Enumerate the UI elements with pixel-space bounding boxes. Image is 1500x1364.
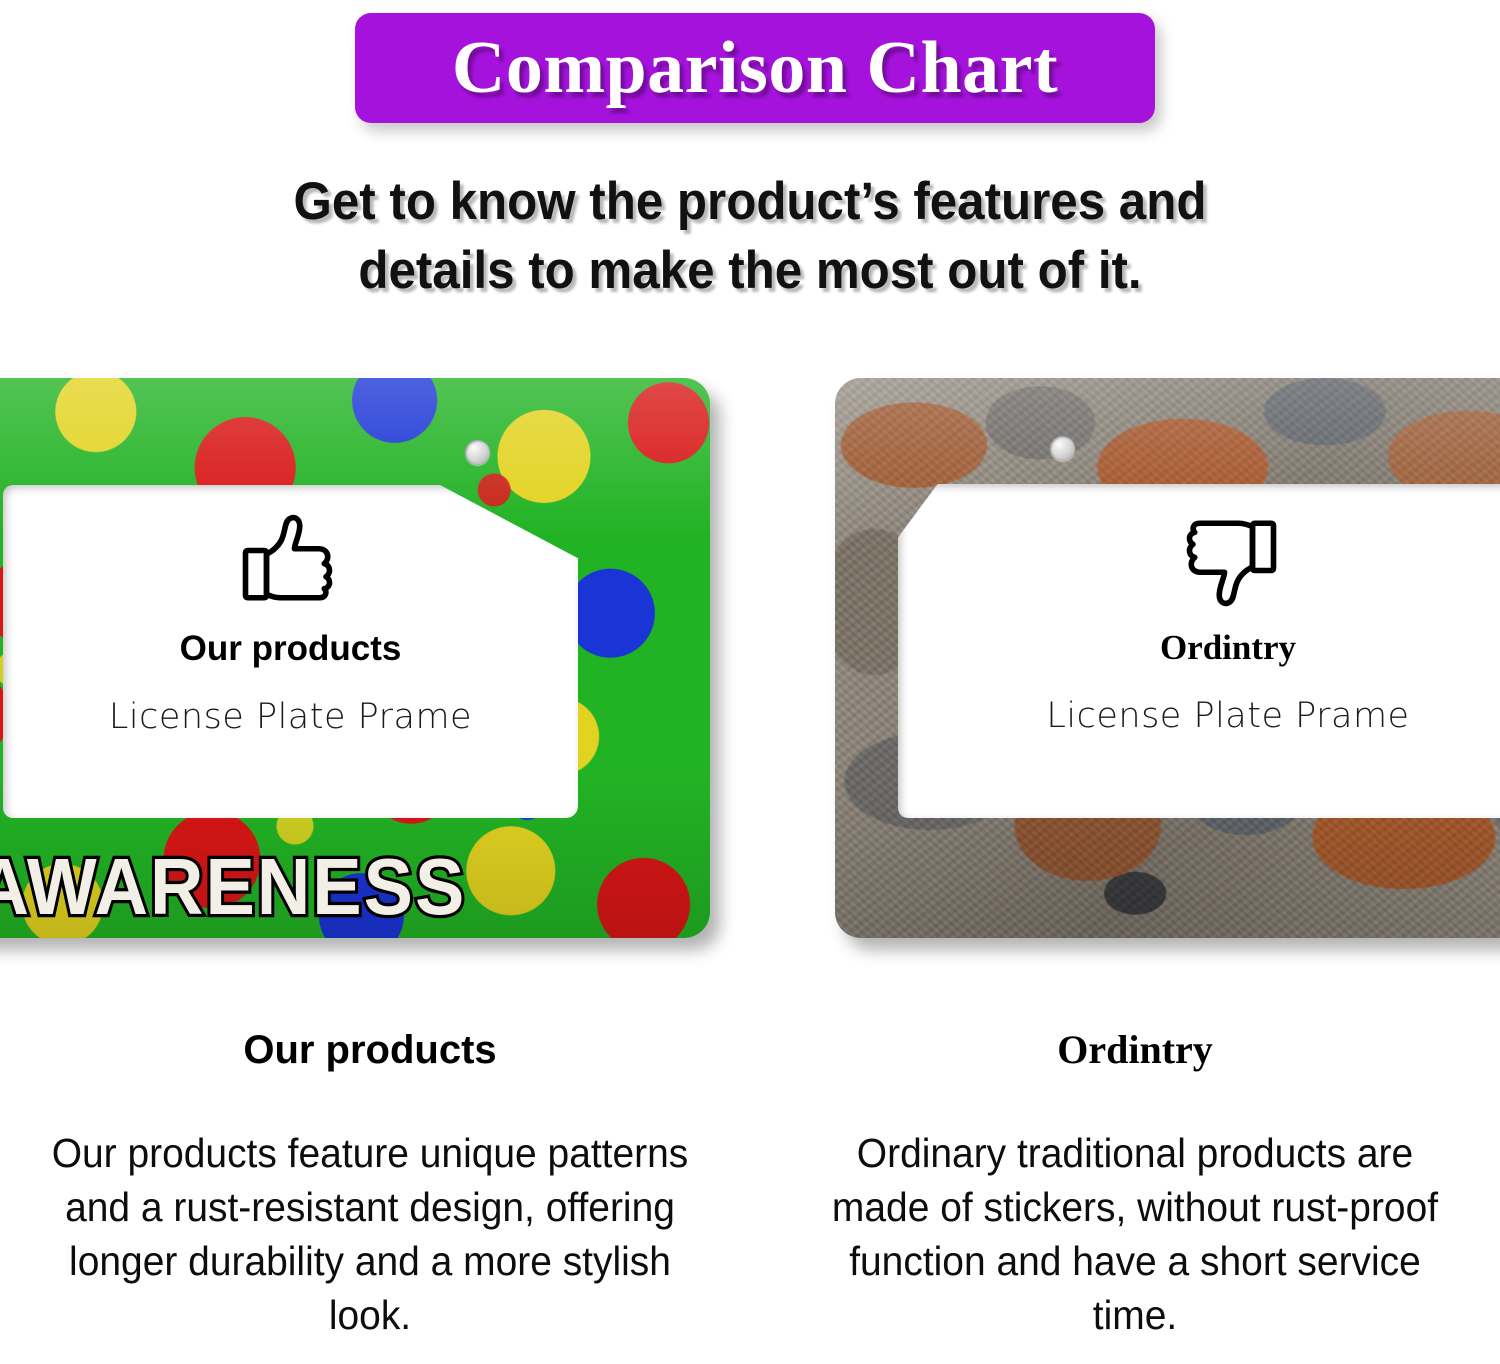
subtitle-line-2: details to make the most out of it. xyxy=(53,237,1448,306)
column-body-ordinary: Ordinary traditional products are made o… xyxy=(807,1126,1463,1342)
plate-slogan-text: M AWARENESS xyxy=(0,847,532,927)
thumbs-up-icon xyxy=(235,505,347,617)
comparison-chart-page: Comparison Chart Get to know the product… xyxy=(0,0,1500,1364)
product-image-ordinary: Ordintry License Plate Prame xyxy=(835,378,1500,938)
comparison-column-ordinary: Ordintry Ordinary traditional products a… xyxy=(790,1030,1480,1342)
comparison-column-ours: Our products Our products feature unique… xyxy=(30,1030,710,1342)
subtitle: Get to know the product’s features and d… xyxy=(53,168,1448,306)
column-heading-ordinary: Ordintry xyxy=(790,1030,1480,1070)
product-image-ours: M AWARENESS Our products License Plate P… xyxy=(0,378,710,938)
subtitle-line-1: Get to know the product’s features and xyxy=(53,168,1448,237)
window-subtitle-ours: License Plate Prame xyxy=(109,700,472,735)
mounting-hole-icon xyxy=(465,440,490,465)
column-heading-ours: Our products xyxy=(30,1030,710,1070)
license-plate-frame-ordinary: Ordintry License Plate Prame xyxy=(835,378,1500,938)
window-subtitle-ordinary: License Plate Prame xyxy=(1046,699,1409,734)
thumbs-down-icon xyxy=(1172,504,1284,616)
page-title: Comparison Chart xyxy=(452,31,1058,105)
plate-window-ours: Our products License Plate Prame xyxy=(3,485,578,818)
title-banner: Comparison Chart xyxy=(355,13,1155,123)
mounting-hole-icon xyxy=(1050,436,1075,461)
column-body-ours: Our products feature unique patterns and… xyxy=(47,1126,693,1342)
window-heading-ours: Our products xyxy=(180,631,402,666)
plate-window-ordinary: Ordintry License Plate Prame xyxy=(898,484,1500,818)
window-heading-ordinary: Ordintry xyxy=(1160,630,1296,665)
license-plate-frame-ours: M AWARENESS Our products License Plate P… xyxy=(0,378,710,938)
